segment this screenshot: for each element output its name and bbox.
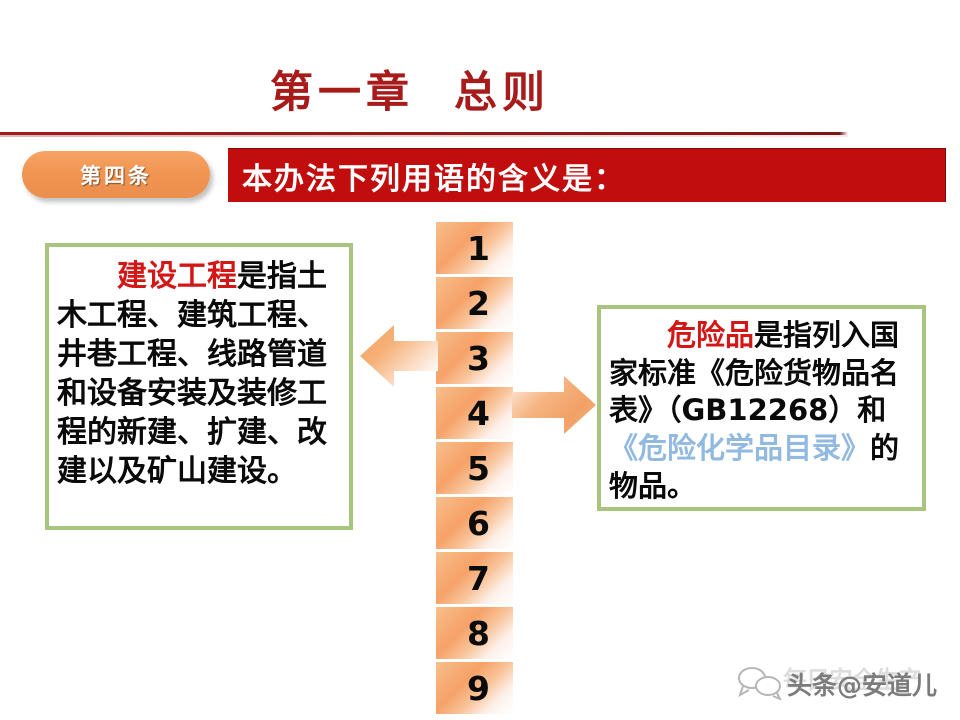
definition-box-construction: 建设工程是指土木工程、建筑工程、井巷工程、线路管道和设备安装及装修工程的新建、扩… (45, 243, 353, 530)
list-item[interactable]: 6 (436, 497, 513, 549)
list-item-number: 9 (467, 669, 490, 708)
list-item[interactable]: 7 (436, 552, 513, 604)
article-badge: 第四条 (22, 151, 210, 198)
slide-canvas: 第一章 总则 第四条 本办法下列用语的含义是： 1 2 3 4 5 6 7 (0, 0, 960, 720)
list-item-number: 4 (467, 394, 490, 433)
list-item-number: 8 (467, 614, 490, 653)
list-item-number: 6 (467, 504, 490, 543)
article-badge-label: 第四条 (80, 160, 152, 190)
list-item-number: 5 (467, 449, 490, 488)
definition-box-hazardous: 危险品是指列入国家标准《危险货物品名表》（GB12268）和《危险化学品目录》的… (597, 305, 926, 511)
definition-keyword: 危险品 (667, 318, 754, 352)
statement-banner-label: 本办法下列用语的含义是： (228, 154, 626, 198)
numbered-list-column: 1 2 3 4 5 6 7 8 9 (436, 222, 513, 717)
list-item-number: 2 (467, 284, 490, 323)
arrow-left-icon (358, 315, 440, 393)
list-item-number: 3 (467, 339, 490, 378)
definition-text: 建设工程是指土木工程、建筑工程、井巷工程、线路管道和设备安装及装修工程的新建、扩… (57, 257, 343, 491)
list-item[interactable]: 8 (436, 607, 513, 659)
definition-keyword: 建设工程 (117, 259, 237, 294)
list-item[interactable]: 9 (436, 662, 513, 714)
definition-catalog-title: 《危险化学品目录》 (609, 431, 870, 465)
arrow-right-icon (512, 372, 598, 438)
list-item[interactable]: 2 (436, 277, 513, 329)
list-item-number: 1 (467, 229, 490, 268)
list-item[interactable]: 4 (436, 387, 513, 439)
definition-body: 是指列入国家标准《危险货物品名表》（GB12268）和 (609, 318, 899, 427)
watermark: 每日安全生产 头条@安道儿 (735, 658, 950, 716)
list-item-number: 7 (467, 559, 490, 598)
watermark-text: 头条@安道儿 (787, 666, 937, 702)
page-title: 第一章 总则 (0, 58, 820, 120)
title-divider-shadow (0, 135, 848, 137)
list-item[interactable]: 3 (436, 332, 513, 384)
list-item[interactable]: 5 (436, 442, 513, 494)
statement-banner: 本办法下列用语的含义是： (228, 148, 946, 202)
definition-text: 危险品是指列入国家标准《危险货物品名表》（GB12268）和《危险化学品目录》的… (609, 317, 918, 505)
chat-bubble-icon (737, 664, 783, 700)
list-item[interactable]: 1 (436, 222, 513, 274)
